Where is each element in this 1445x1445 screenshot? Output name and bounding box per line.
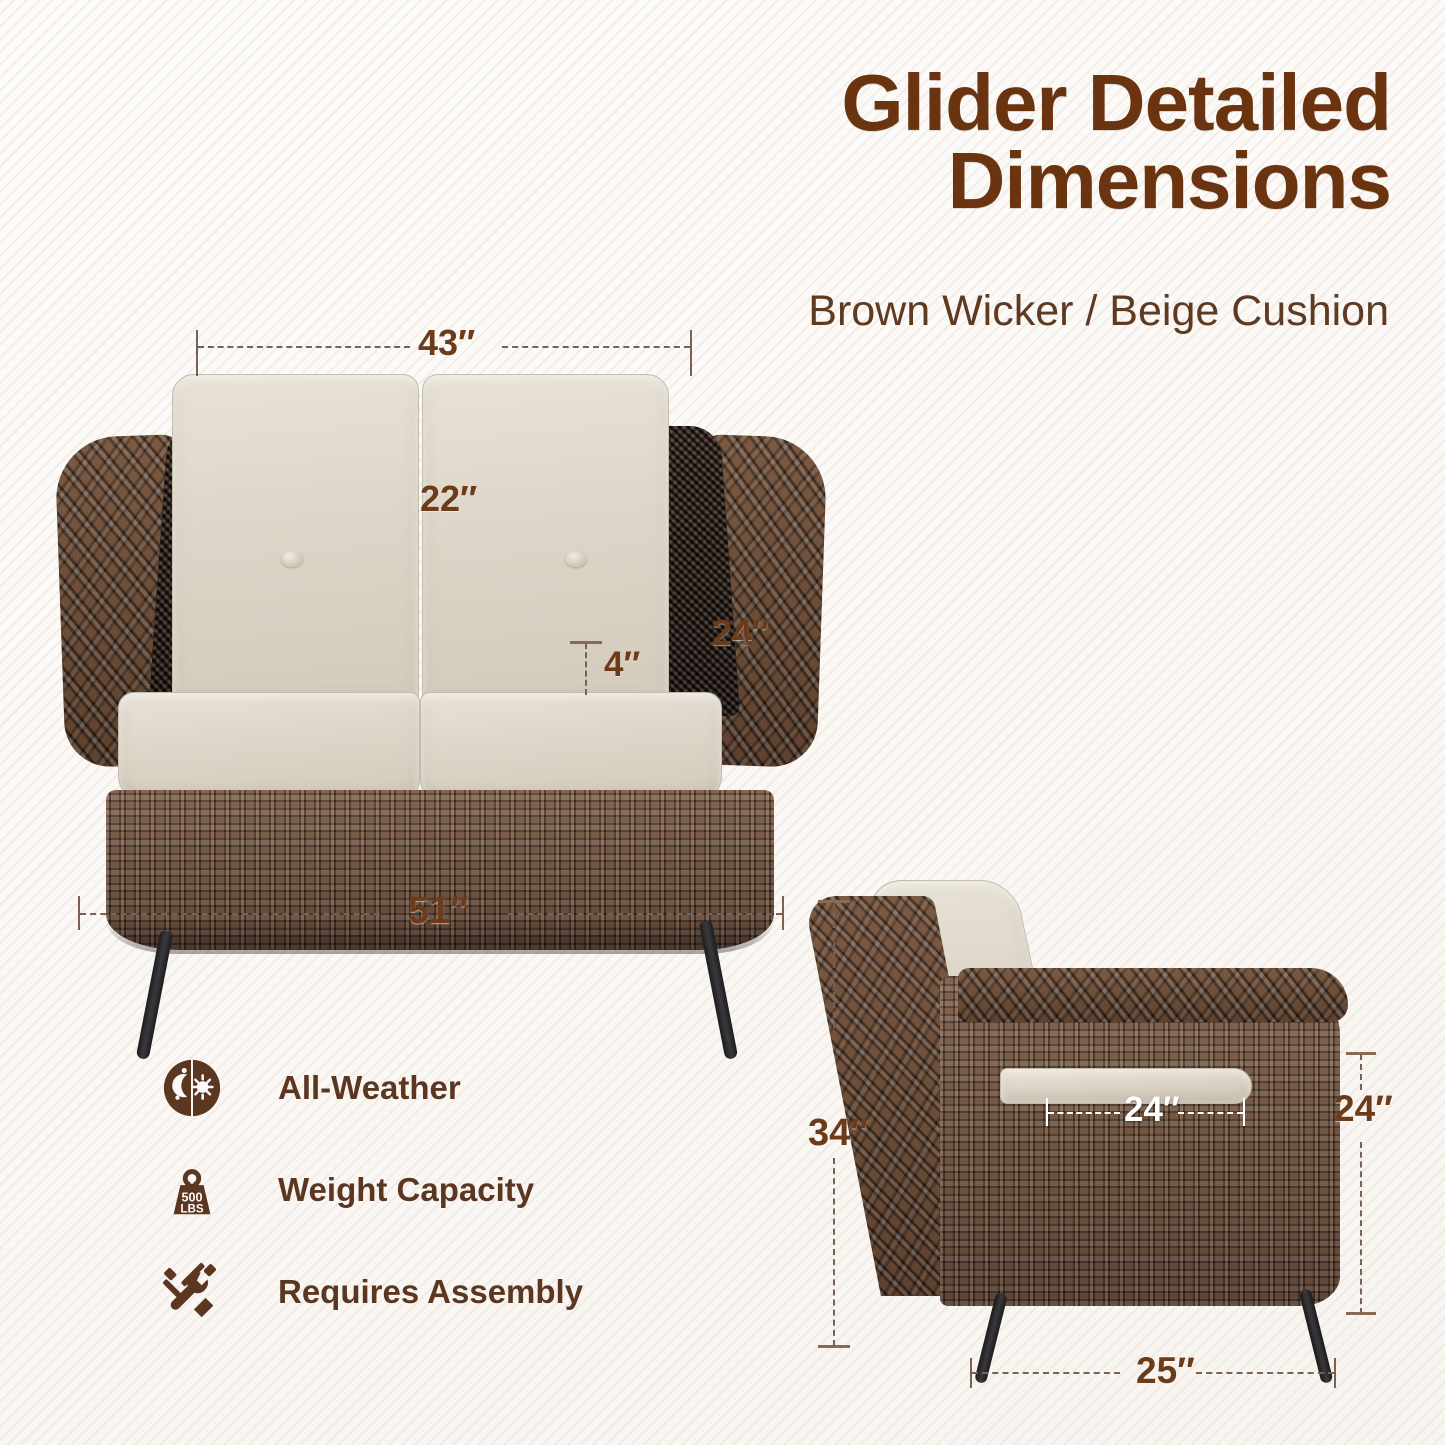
dim-label-24-seat-height: 24″ [1334, 1088, 1393, 1130]
feature-label: All-Weather [278, 1069, 461, 1107]
side-view-illustration [830, 880, 1370, 1380]
weight-500lbs-icon: 500 LBS [160, 1158, 224, 1222]
dim-25-tick-right [1334, 1358, 1336, 1388]
dim-43-tick-left [196, 330, 198, 376]
dim-43-line-left [198, 346, 410, 348]
infographic-canvas: Glider Detailed Dimensions Brown Wicker … [0, 0, 1445, 1445]
dim-43-tick-right [690, 330, 692, 376]
feature-list: All-Weather 500 LBS Weight Capacity [160, 1048, 720, 1354]
dim-label-51: 51″ [408, 890, 468, 933]
dim-25-line-right [1196, 1372, 1334, 1374]
page-subtitle: Brown Wicker / Beige Cushion [549, 288, 1389, 335]
tools-icon [160, 1260, 224, 1324]
dim-24-right-line-top [1360, 1054, 1362, 1090]
dim-24-inner-line-left [1048, 1112, 1120, 1114]
dim-24-right-line-bot [1360, 1142, 1362, 1314]
dim-51-tick-right [782, 896, 784, 930]
dim-label-25: 25″ [1136, 1350, 1195, 1392]
left-back-cushion [172, 374, 419, 706]
dim-label-22: 22″ [420, 478, 477, 520]
dim-51-line-right [508, 913, 782, 915]
dim-label-34: 34″ [808, 1112, 868, 1155]
dim-25-line-left [972, 1372, 1120, 1374]
loveseat-front-view-illustration [60, 360, 820, 900]
side-armrest-top [958, 968, 1348, 1022]
dim-24-inner-line-right [1178, 1112, 1243, 1114]
dim-4-line [585, 643, 587, 695]
right-seat-cushion [420, 692, 722, 802]
tuft-button [565, 551, 587, 567]
weight-badge-unit: LBS [180, 1202, 203, 1215]
left-seat-cushion [118, 692, 420, 802]
moon-sun-icon [160, 1056, 224, 1120]
feature-requires-assembly: Requires Assembly [160, 1252, 720, 1332]
dim-label-24-seat-width: 24″ [1124, 1090, 1180, 1130]
side-body [940, 976, 1340, 1306]
feature-all-weather: All-Weather [160, 1048, 720, 1128]
feature-label: Weight Capacity [278, 1171, 534, 1209]
feature-label: Requires Assembly [278, 1273, 583, 1311]
dim-label-4: 4″ [604, 645, 640, 685]
dim-51-line-left [80, 913, 380, 915]
tuft-button [281, 551, 303, 567]
dim-34-line-top [833, 902, 835, 1028]
dim-label-43: 43″ [418, 322, 475, 364]
dim-24-inner-tick-right [1243, 1098, 1245, 1126]
dim-34-line-bot [833, 1158, 835, 1346]
page-title: Glider Detailed Dimensions [551, 64, 1391, 221]
feature-weight-capacity: 500 LBS Weight Capacity [160, 1150, 720, 1230]
dim-43-line-right [502, 346, 690, 348]
